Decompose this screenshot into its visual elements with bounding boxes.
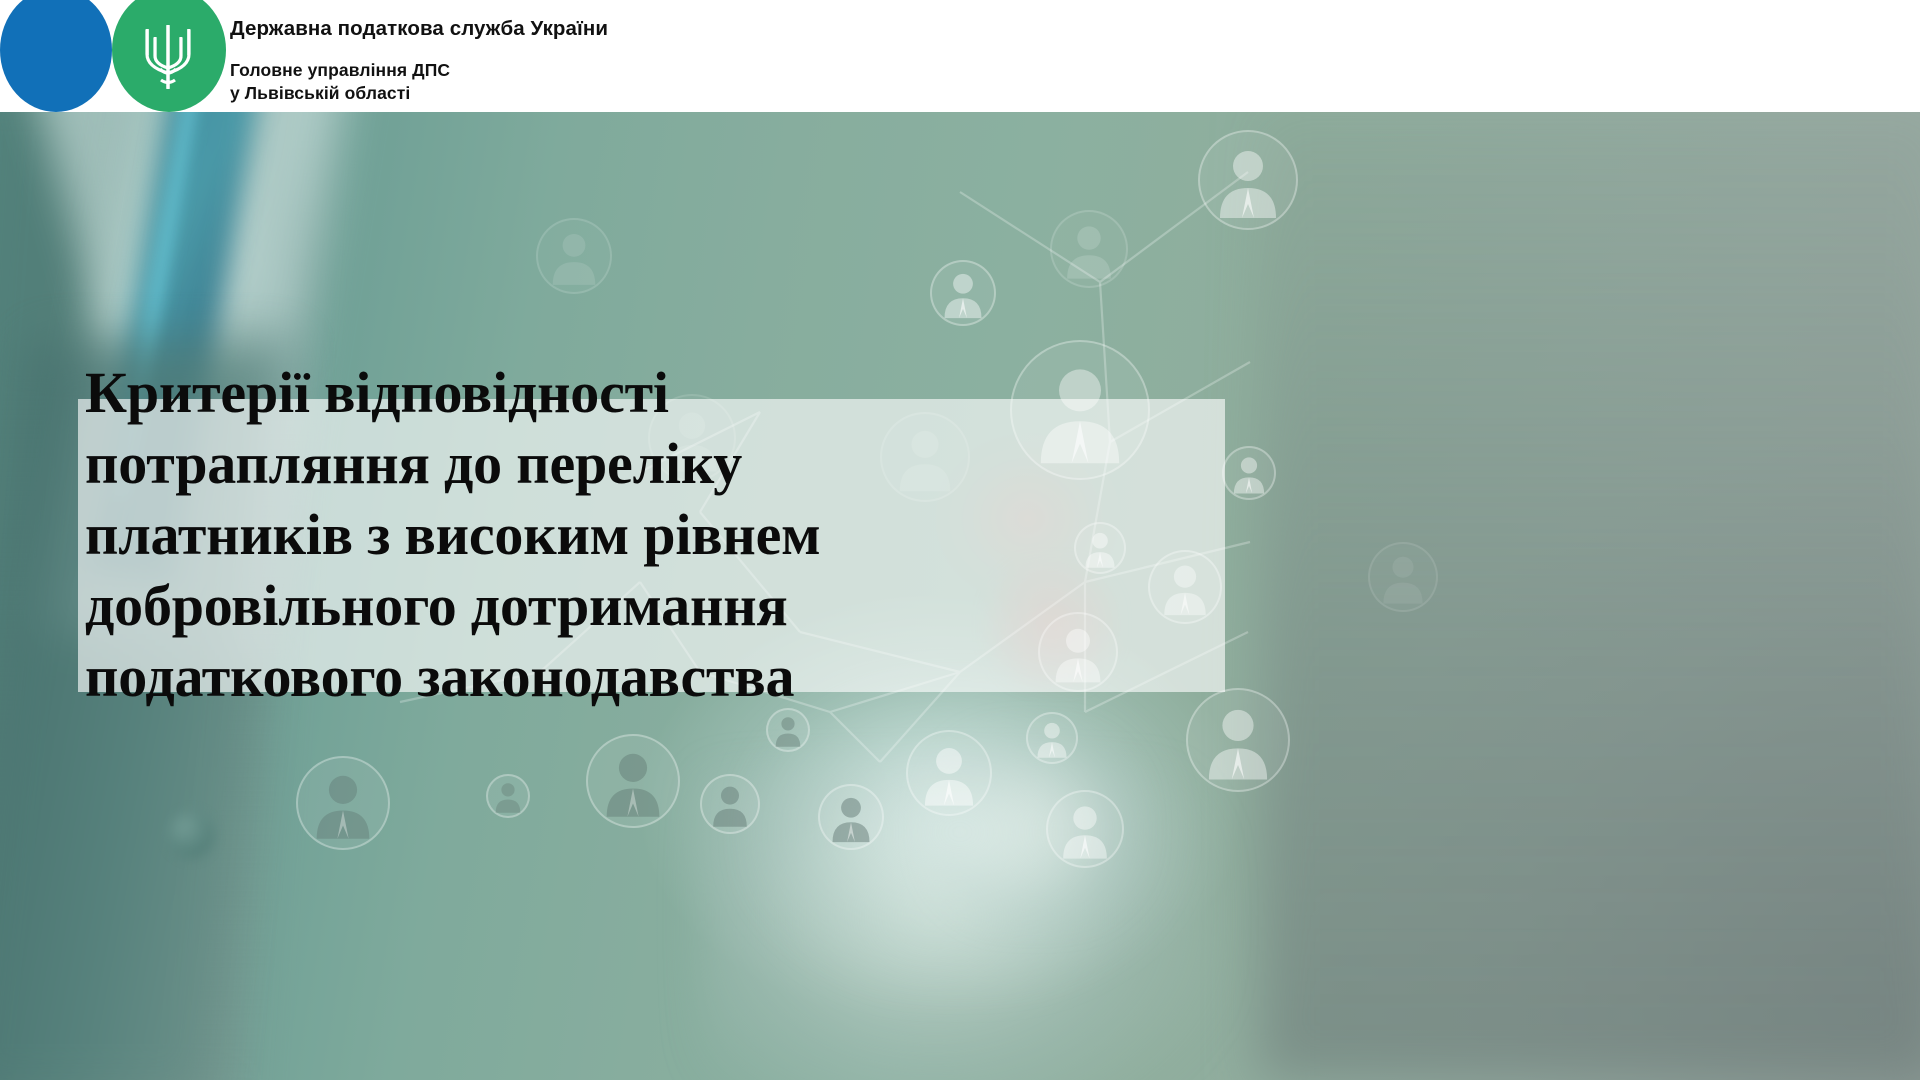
person-icon-node: [766, 708, 810, 752]
page-title: Критерії відповідності потрапляння до пе…: [85, 357, 1265, 712]
title-line-2: потрапляння до переліку: [85, 428, 1265, 499]
person-icon-node: [586, 734, 680, 828]
person-icon-node: [818, 784, 884, 850]
title-line-4: добровільного дотримання: [85, 570, 1265, 641]
slide-root: Державна податкова служба України Головн…: [0, 0, 1920, 1080]
department-line-1: Головне управління ДПС: [230, 60, 450, 81]
title-line-3: платників з високим рівнем: [85, 499, 1265, 570]
hero-background: Критерії відповідності потрапляння до пе…: [0, 112, 1920, 1080]
person-icon-node: [486, 774, 530, 818]
page-header: Державна податкова служба України Головн…: [0, 0, 1920, 112]
title-line-5: податкового законодавства: [85, 641, 1265, 712]
department-line-2: у Львівській області: [230, 83, 410, 104]
person-icon-node: [1050, 210, 1128, 288]
title-line-1: Критерії відповідності: [85, 357, 1265, 428]
organization-title: Державна податкова служба України: [230, 17, 608, 41]
ukrainian-trident-emblem-icon: [137, 20, 199, 100]
person-icon-node: [1046, 790, 1124, 868]
person-icon-node: [1368, 542, 1438, 612]
person-icon-node: [1198, 130, 1298, 230]
blue-circle-icon: [0, 0, 112, 112]
person-icon-node: [906, 730, 992, 816]
person-icon-node: [296, 756, 390, 850]
person-icon-node: [930, 260, 996, 326]
person-icon-node: [536, 218, 612, 294]
person-icon-node: [1026, 712, 1078, 764]
logo: [0, 0, 240, 112]
person-icon-node: [700, 774, 760, 834]
